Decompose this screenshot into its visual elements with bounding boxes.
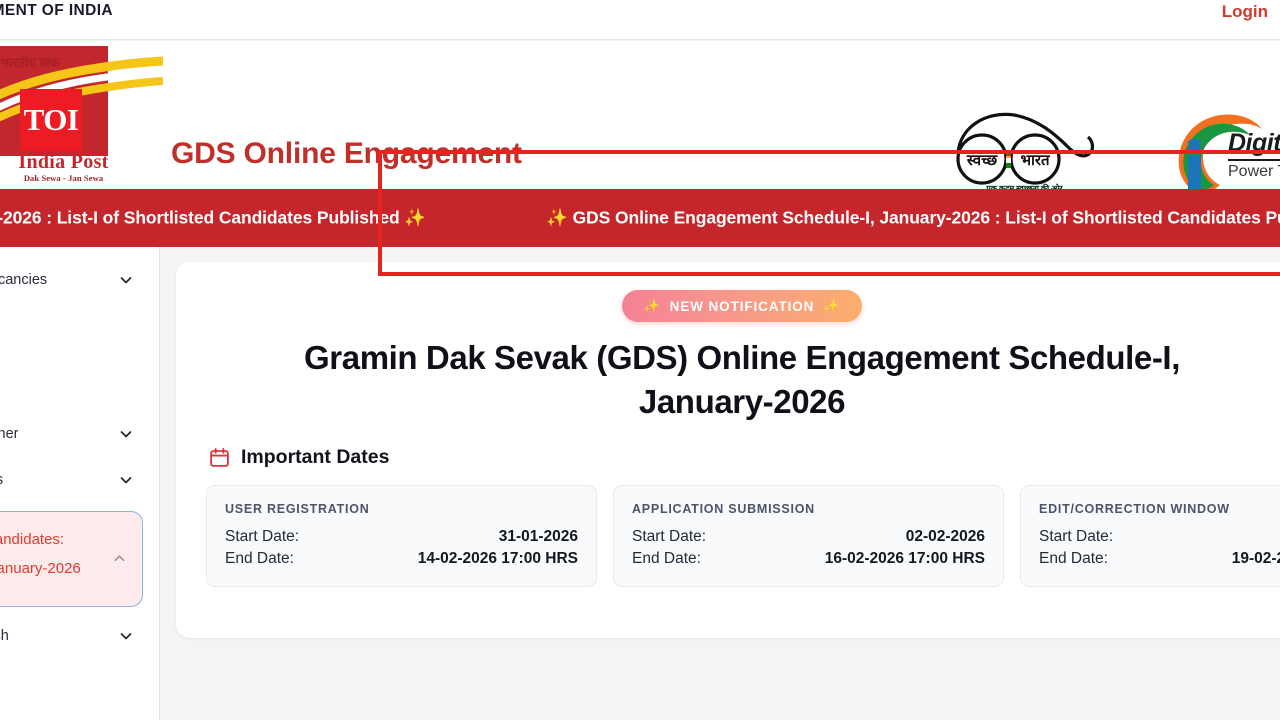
date-card-application-submission: APPLICATION SUBMISSION Start Date: 02-02… xyxy=(613,485,1004,587)
date-row-value: 31-01-2026 xyxy=(499,528,578,546)
digital-india-sub-label: Power To Empower xyxy=(1228,163,1280,181)
date-row: End Date: 14-02-2026 17:00 HRS xyxy=(225,548,578,570)
content-card: ✨ NEW NOTIFICATION ✨ Gramin Dak Sevak (G… xyxy=(176,262,1280,638)
login-link[interactable]: Login xyxy=(1222,2,1268,22)
sidebar-spacer xyxy=(0,303,159,337)
ticker-track: GDS Online Engagement Schedule-I, Januar… xyxy=(0,208,1280,229)
date-card-title: USER REGISTRATION xyxy=(225,502,578,516)
date-card-edit-correction-window: EDIT/CORRECTION WINDOW Start Date: 17-02… xyxy=(1020,485,1280,587)
date-row-label: End Date: xyxy=(632,550,701,568)
site-masthead: भारतीय डाक India Post Dak Sewa - Jan Sew… xyxy=(0,41,1280,188)
main-area: Circle Wise Vacancies Notifications Cand… xyxy=(0,247,1280,720)
india-post-tagline: Dak Sewa - Jan Sewa xyxy=(6,173,121,183)
date-row-value: 16-02-2026 17:00 HRS xyxy=(825,550,985,568)
toi-watermark: TOI xyxy=(20,89,82,151)
important-dates-title: Important Dates xyxy=(241,446,389,469)
sidebar-item-notifications[interactable]: Notifications xyxy=(0,337,159,377)
sidebar-item-label: Important Links xyxy=(0,472,3,488)
sidebar-item-candidate-corner[interactable]: Candidate Corner xyxy=(0,411,159,457)
date-row: End Date: 16-02-2026 17:00 HRS xyxy=(632,548,985,570)
date-row: Start Date: 17-02-2026 xyxy=(1039,526,1280,548)
date-row-label: End Date: xyxy=(225,550,294,568)
sparkle-icon: ✨ xyxy=(823,298,840,314)
svg-text:भारत: भारत xyxy=(1020,153,1051,169)
date-row: Start Date: 31-01-2026 xyxy=(225,526,578,548)
announcement-ticker[interactable]: GDS Online Engagement Schedule-I, Januar… xyxy=(0,189,1280,247)
ticker-item[interactable]: ✨ GDS Online Engagement Schedule-I, Janu… xyxy=(546,208,1280,229)
sidebar-item-circle-wise-vacancies[interactable]: Circle Wise Vacancies xyxy=(0,257,159,303)
new-notification-badge[interactable]: ✨ NEW NOTIFICATION ✨ xyxy=(622,290,863,322)
sidebar-item-label: Circle Wise Vacancies xyxy=(0,272,47,288)
sidebar-item-important-links[interactable]: Important Links xyxy=(0,457,159,503)
sidebar-item-andhra-pradesh[interactable]: Andhra Pradesh xyxy=(0,613,159,659)
calendar-icon xyxy=(209,447,230,468)
page-root: GOVERNMENT OF INDIA Login भारतीय डाक Ind… xyxy=(0,0,1280,720)
government-of-india-label: GOVERNMENT OF INDIA xyxy=(0,2,113,20)
date-row-label: Start Date: xyxy=(1039,528,1113,546)
sparkle-icon: ✨ xyxy=(546,208,568,228)
digital-india-main-label: Digital India xyxy=(1228,129,1280,161)
sparkle-icon: ✨ xyxy=(404,208,426,228)
sidebar-item-label: Andhra Pradesh xyxy=(0,628,9,644)
date-card-user-registration: USER REGISTRATION Start Date: 31-01-2026… xyxy=(206,485,597,587)
chevron-up-icon xyxy=(113,552,126,565)
sidebar-item-shortlisted-candidates[interactable]: Shortlisted Candidates: Schedule-I, Janu… xyxy=(0,511,143,607)
date-row: Start Date: 02-02-2026 xyxy=(632,526,985,548)
sidebar-item-label: Shortlisted Candidates: Schedule-I, Janu… xyxy=(0,526,81,583)
india-post-wordmark: India Post xyxy=(6,151,121,174)
india-post-hindi-text: भारतीय डाक xyxy=(0,56,60,70)
chevron-down-icon xyxy=(119,629,133,643)
toi-watermark-label: TOI xyxy=(24,102,79,138)
date-card-title: APPLICATION SUBMISSION xyxy=(632,502,985,516)
main-heading: Gramin Dak Sevak (GDS) Online Engagement… xyxy=(206,336,1278,424)
sparkle-icon: ✨ xyxy=(644,298,661,314)
date-card-title: EDIT/CORRECTION WINDOW xyxy=(1039,502,1280,516)
important-dates-header: Important Dates xyxy=(209,446,1278,469)
chevron-down-icon xyxy=(119,427,133,441)
date-row-value: 14-02-2026 17:00 HRS xyxy=(418,550,578,568)
digital-india-text: Digital India Power To Empower xyxy=(1228,129,1280,181)
svg-text:स्वच्छ: स्वच्छ xyxy=(966,153,998,169)
date-row-label: Start Date: xyxy=(225,528,299,546)
notification-badge-label: NEW NOTIFICATION xyxy=(670,299,815,314)
ticker-message-1: GDS Online Engagement Schedule-I, Januar… xyxy=(0,208,400,228)
chevron-down-icon xyxy=(119,273,133,287)
ticker-item[interactable]: GDS Online Engagement Schedule-I, Januar… xyxy=(0,208,546,229)
date-row: End Date: 19-02-2026 17:00 HRS xyxy=(1039,548,1280,570)
important-dates-grid: USER REGISTRATION Start Date: 31-01-2026… xyxy=(206,485,1278,587)
date-row-label: Start Date: xyxy=(632,528,706,546)
date-row-value: 19-02-2026 17:00 HRS xyxy=(1232,550,1280,568)
date-row-value: 02-02-2026 xyxy=(906,528,985,546)
date-row-label: End Date: xyxy=(1039,550,1108,568)
sidebar-spacer xyxy=(0,377,159,411)
sidebar-item-label: Candidate Corner xyxy=(0,426,18,442)
notification-badge-row: ✨ NEW NOTIFICATION ✨ xyxy=(206,290,1278,322)
ticker-message-2: GDS Online Engagement Schedule-I, Januar… xyxy=(573,208,1280,228)
government-top-bar: GOVERNMENT OF INDIA Login xyxy=(0,0,1280,40)
page-title: GDS Online Engagement xyxy=(171,137,522,171)
chevron-down-icon xyxy=(119,473,133,487)
sidebar: Circle Wise Vacancies Notifications Cand… xyxy=(0,247,160,720)
